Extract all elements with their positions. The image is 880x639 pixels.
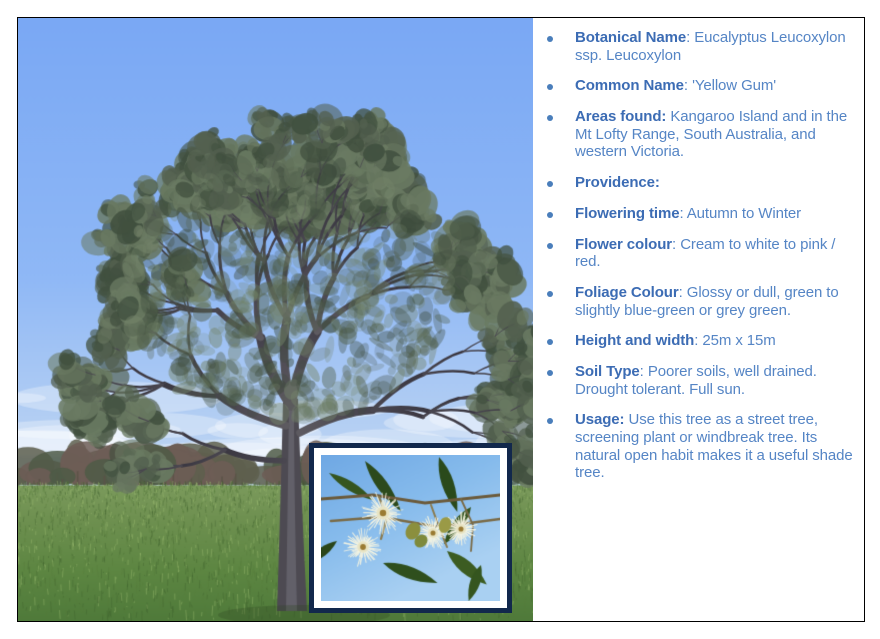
fact-item: Flower colour: Cream to white to pink / … [539, 236, 858, 271]
fact-separator: : [679, 205, 686, 222]
fact-label: Soil Type [575, 363, 640, 380]
fact-item: Soil Type: Poorer soils, well drained. D… [539, 363, 858, 398]
flower-inset-photo [309, 443, 512, 613]
fact-item: Usage: Use this tree as a street tree, s… [539, 411, 858, 482]
fact-separator: : [640, 363, 648, 380]
fact-label: Providence: [575, 174, 660, 191]
fact-label: Flowering time [575, 205, 679, 222]
fact-text-pane: Botanical Name: Eucalyptus Leucoxylon ss… [533, 18, 864, 621]
fact-label: Flower colour [575, 236, 672, 253]
fact-label: Height and width [575, 332, 694, 349]
fact-item: Flowering time: Autumn to Winter [539, 205, 858, 223]
fact-item: Height and width: 25m x 15m [539, 332, 858, 350]
fact-value: Autumn to Winter [687, 205, 801, 222]
plant-fact-list: Botanical Name: Eucalyptus Leucoxylon ss… [539, 29, 858, 482]
fact-item: Common Name: 'Yellow Gum' [539, 77, 858, 95]
slide-frame: Botanical Name: Eucalyptus Leucoxylon ss… [17, 17, 865, 622]
fact-separator: : [672, 236, 680, 253]
fact-value: 'Yellow Gum' [692, 77, 776, 94]
fact-separator: : [684, 77, 692, 94]
fact-item: Areas found: Kangaroo Island and in the … [539, 108, 858, 161]
fact-item: Providence: [539, 174, 858, 192]
fact-label: Botanical Name [575, 29, 686, 46]
fact-label: Usage: [575, 411, 624, 428]
flower-inset-canvas [321, 455, 500, 601]
fact-item: Foliage Colour: Glossy or dull, green to… [539, 284, 858, 319]
fact-label: Common Name [575, 77, 684, 94]
tree-photo [18, 18, 533, 621]
fact-item: Botanical Name: Eucalyptus Leucoxylon ss… [539, 29, 858, 64]
fact-label: Areas found: [575, 108, 666, 125]
fact-separator: : [679, 284, 687, 301]
fact-value: 25m x 15m [702, 332, 775, 349]
fact-label: Foliage Colour [575, 284, 679, 301]
